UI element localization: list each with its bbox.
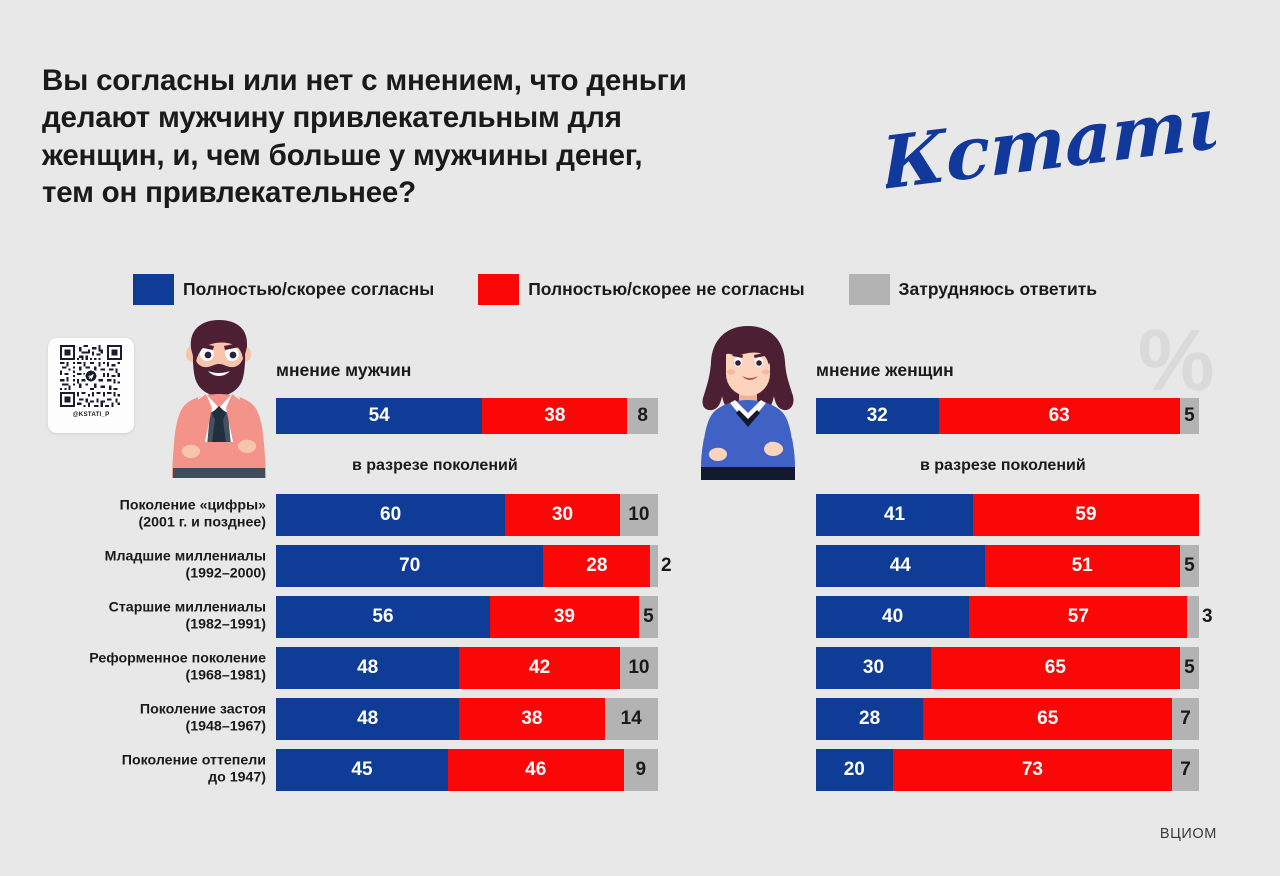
bar-segment-hard: 2 [650,545,658,587]
bar-segment-agree: 32 [816,398,939,434]
bar-value-agree: 48 [357,657,378,679]
bar-segment-agree: 56 [276,596,490,638]
row-label-line-2: (1992–2000) [105,566,266,583]
bar-value-disagree: 57 [1068,606,1089,628]
bar-segment-agree: 41 [816,494,973,536]
bar-segment-disagree: 65 [931,647,1180,689]
row-label-line-2: (2001 г. и позднее) [120,515,266,532]
bar-segment-agree: 60 [276,494,505,536]
bar-value-disagree: 65 [1037,708,1058,730]
bar-value-disagree: 46 [525,759,546,781]
bar-value-disagree: 63 [1049,405,1070,427]
table-row: 44515 [816,545,1199,587]
rows-men: Поколение «цифры»(2001 г. и позднее)6030… [276,494,658,800]
bar-value-hard: 5 [643,606,654,628]
stacked-bar: 20737 [816,749,1199,791]
row-label-line-2: (1982–1991) [109,617,266,634]
bar-segment-hard: 5 [639,596,658,638]
bar-value-hard: 14 [621,708,642,730]
legend-swatch-agree-icon [133,274,174,305]
bar-value-disagree: 59 [1075,504,1096,526]
row-label-line-1: Поколение застоя [140,702,266,719]
legend-swatch-disagree-icon [478,274,519,305]
bar-value-hard: 5 [1184,657,1195,679]
table-row: Старшие миллениалы(1982–1991)56395 [276,596,658,638]
bar-segment-hard: 7 [1172,698,1199,740]
man-illustration [160,318,278,478]
qr-code-card[interactable]: @KSTATI_P [48,338,134,433]
bar-value-agree: 40 [882,606,903,628]
row-label-line-1: Поколение «цифры» [120,498,266,515]
row-label-line-2: (1968–1981) [89,668,266,685]
bar-value-agree: 45 [351,759,372,781]
bar-segment-hard: 10 [620,494,658,536]
bar-segment-disagree: 28 [543,545,650,587]
table-row: Поколение застоя(1948–1967)483814 [276,698,658,740]
table-row: Поколение «цифры»(2001 г. и позднее)6030… [276,494,658,536]
bar-value-disagree: 39 [554,606,575,628]
legend-label-agree: Полностью/скорее согласны [183,279,434,300]
row-label-line-1: Старшие миллениалы [109,600,266,617]
bar-value-disagree: 42 [529,657,550,679]
percent-watermark: % [1138,318,1212,404]
bar-segment-agree: 28 [816,698,923,740]
row-label-line-2: (1948–1967) [140,719,266,736]
title-line-2: делают мужчину привлекательным для [42,99,872,136]
row-label-line-1: Поколение оттепели [122,753,266,770]
stacked-bar: 483814 [276,698,658,740]
row-label: Реформенное поколение(1968–1981) [89,651,266,686]
bar-value-hard: 7 [1180,708,1191,730]
panel-men-title: мнение мужчин [276,360,411,381]
bar-value-agree: 30 [863,657,884,679]
stacked-bar: 30655 [816,647,1199,689]
legend: Полностью/скорее согласны Полностью/скор… [133,274,1097,305]
bar-value-disagree: 51 [1072,555,1093,577]
bar-segment-hard: 3 [1187,596,1198,638]
bar-segment-hard: 14 [605,698,658,740]
woman-illustration [690,322,806,480]
bar-segment-disagree: 42 [459,647,619,689]
table-row: 30655 [816,647,1199,689]
stacked-bar: 484210 [276,647,658,689]
legend-label-disagree: Полностью/скорее не согласны [528,279,804,300]
bar-value-agree: 20 [844,759,865,781]
title-line-1: Вы согласны или нет с мнением, что деньг… [42,62,872,99]
bar-segment-agree: 48 [276,698,459,740]
table-row: Реформенное поколение(1968–1981)484210 [276,647,658,689]
page-title: Вы согласны или нет с мнением, что деньг… [42,62,872,212]
bar-value-hard: 5 [1184,555,1195,577]
table-row: 4159 [816,494,1199,536]
table-row: 40573 [816,596,1199,638]
bar-segment-disagree: 65 [923,698,1172,740]
bar-segment-hard: 9 [624,749,658,791]
bar-segment-disagree: 57 [969,596,1187,638]
rows-women: 41594451540573306552865720737 [816,494,1199,800]
bar-value-agree: 32 [867,405,888,427]
bar-value-hard: 10 [628,657,649,679]
bar-value-agree: 70 [399,555,420,577]
bar-segment-hard: 7 [1172,749,1199,791]
panel-men-subtitle: в разрезе поколений [352,457,518,475]
bar-segment-agree: 30 [816,647,931,689]
bar-segment-hard: 10 [620,647,658,689]
bar-value-disagree: 73 [1022,759,1043,781]
bar-value-hard: 9 [636,759,647,781]
bar-value-hard: 3 [1202,606,1213,628]
legend-label-hard: Затрудняюсь ответить [899,279,1098,300]
bar-segment-hard: 5 [1180,545,1199,587]
stacked-bar: 603010 [276,494,658,536]
table-row: 20737 [816,749,1199,791]
legend-item-hard: Затрудняюсь ответить [849,274,1098,305]
legend-item-agree: Полностью/скорее согласны [133,274,434,305]
stacked-bar: 56395 [276,596,658,638]
row-label-line-1: Младшие миллениалы [105,549,266,566]
table-row: 28657 [816,698,1199,740]
bar-value-agree: 44 [890,555,911,577]
bar-segment-disagree: 39 [490,596,639,638]
bar-segment-disagree: 38 [459,698,604,740]
stacked-bar: 4159 [816,494,1199,536]
panel-women-title: мнение женщин [816,360,954,381]
bar-value-disagree: 38 [544,405,565,427]
brand-wordmark-text: Кстати, [886,108,1216,207]
bar-segment-hard: 5 [1180,398,1199,434]
bar-value-agree: 54 [369,405,390,427]
source-label: ВЦИОМ [1160,826,1217,842]
legend-item-disagree: Полностью/скорее не согласны [478,274,804,305]
bar-segment-agree: 20 [816,749,893,791]
bar-segment-disagree: 59 [973,494,1199,536]
bar-segment-agree: 45 [276,749,448,791]
bar-value-disagree: 38 [521,708,542,730]
bar-value-agree: 41 [884,504,905,526]
qr-handle-label: @KSTATI_P [73,411,110,418]
bar-segment-agree: 48 [276,647,459,689]
row-label: Поколение «цифры»(2001 г. и позднее) [120,498,266,533]
bar-value-hard: 2 [661,555,672,577]
bar-value-hard: 8 [637,405,648,427]
bar-segment-disagree: 73 [893,749,1173,791]
bar-value-hard: 10 [628,504,649,526]
bar-value-hard: 7 [1180,759,1191,781]
bar-value-agree: 48 [357,708,378,730]
bar-segment-agree: 70 [276,545,543,587]
bar-segment-hard: 8 [627,398,658,434]
bar-value-disagree: 28 [586,555,607,577]
table-row: Младшие миллениалы(1992–2000)70282 [276,545,658,587]
table-row: Поколение оттепелидо 1947)45469 [276,749,658,791]
title-line-4: тем он привлекательнее? [42,174,872,211]
stacked-bar: 45469 [276,749,658,791]
bar-value-disagree: 30 [552,504,573,526]
panel-women-subtitle: в разрезе поколений [920,457,1086,475]
row-label: Старшие миллениалы(1982–1991) [109,600,266,635]
qr-code-icon [60,345,122,407]
stacked-bar: 70282 [276,545,658,587]
legend-swatch-hard-icon [849,274,890,305]
bar-value-agree: 60 [380,504,401,526]
bar-segment-disagree: 63 [939,398,1180,434]
bar-segment-agree: 44 [816,545,985,587]
stacked-bar: 28657 [816,698,1199,740]
stacked-bar: 44515 [816,545,1199,587]
bar-segment-disagree: 46 [448,749,624,791]
bar-segment-hard: 5 [1180,647,1199,689]
infographic-root: % Вы согласны или нет с мнением, что ден… [0,0,1280,876]
bar-segment-agree: 54 [276,398,482,434]
bar-segment-disagree: 30 [505,494,620,536]
summary-bar-women: 32635 [816,398,1199,434]
bar-segment-disagree: 51 [985,545,1180,587]
row-label: Поколение оттепелидо 1947) [122,753,266,788]
bar-value-hard: 5 [1184,405,1195,427]
row-label: Младшие миллениалы(1992–2000) [105,549,266,584]
title-line-3: женщин, и, чем больше у мужчины денег, [42,137,872,174]
bar-segment-disagree: 38 [482,398,627,434]
row-label: Поколение застоя(1948–1967) [140,702,266,737]
row-label-line-2: до 1947) [122,770,266,787]
stacked-bar: 40573 [816,596,1199,638]
bar-value-agree: 28 [859,708,880,730]
bar-value-disagree: 65 [1045,657,1066,679]
summary-bar-men: 54388 [276,398,658,434]
bar-segment-agree: 40 [816,596,969,638]
row-label-line-1: Реформенное поколение [89,651,266,668]
bar-value-agree: 56 [372,606,393,628]
brand-logo: Кстати, [886,108,1216,216]
